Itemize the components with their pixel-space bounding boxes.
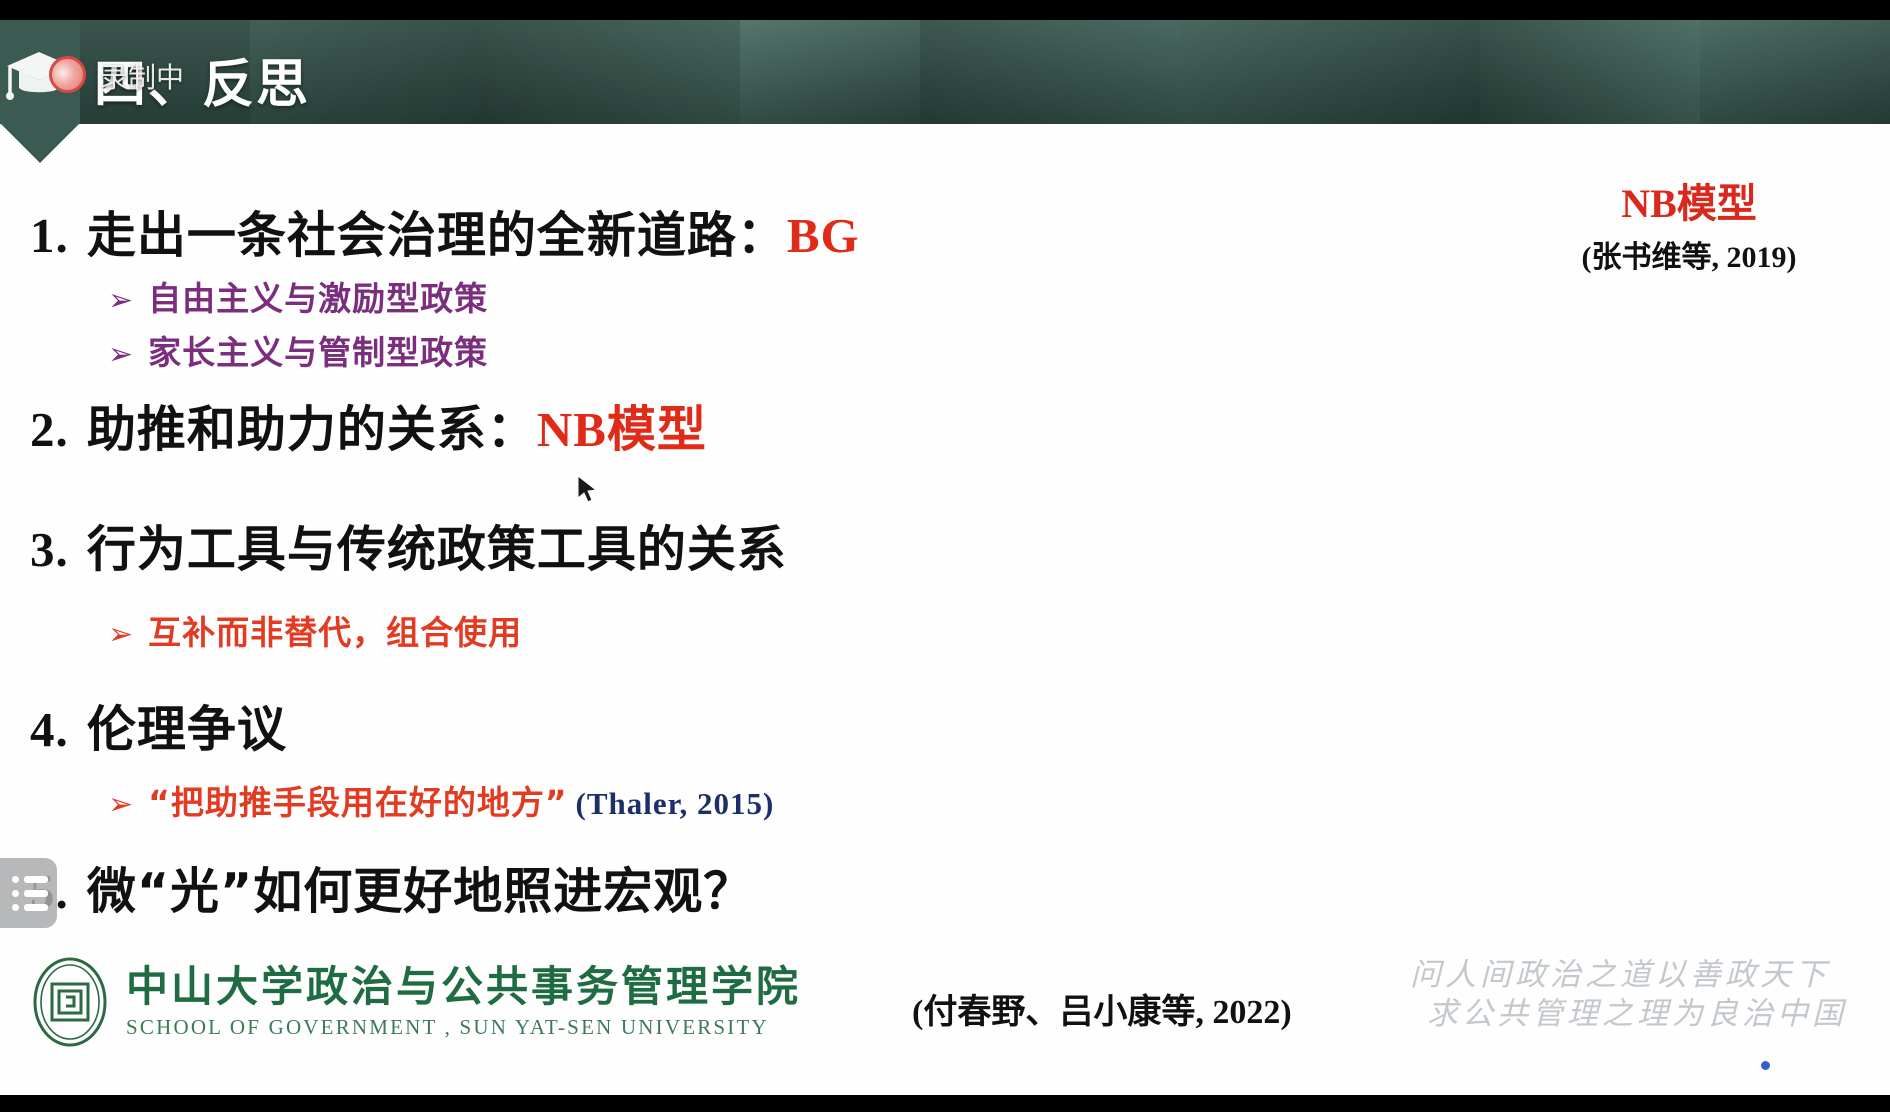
menu-dot-icon [12,890,19,897]
slide-header-banner: 四、反思 [0,20,1890,124]
university-logo: 中山大学政治与公共事务管理学院 SCHOOL OF GOVERNMENT , S… [32,956,801,1048]
outline-subitem-1-2: ➢家长主义与管制型政策 [108,326,488,374]
nb-model-annotation: NB模型 (张书维等, 2019) [1524,182,1854,276]
outline-text: 行为工具与传统政策工具的关系 [87,521,787,578]
bullet-arrow-icon: ➢ [108,337,134,372]
footer-citation: (付春野、吕小康等, 2022) [912,984,1292,1033]
subitem-text: 家长主义与管制型政策 [148,333,488,372]
outline-number: 1. [30,208,69,263]
recording-status-label: 录制中 [100,56,184,96]
menu-button[interactable] [0,858,57,928]
calligraphy-line-1: 问人间政治之道以善政天下 [1360,956,1880,995]
logo-text-block: 中山大学政治与公共事务管理学院 SCHOOL OF GOVERNMENT , S… [126,966,801,1038]
logo-english-name: SCHOOL OF GOVERNMENT , SUN YAT-SEN UNIVE… [126,1017,801,1038]
blue-dot-marker [1761,1061,1770,1070]
nb-model-title: NB模型 [1524,182,1854,226]
letterbox-bottom [0,1095,1890,1112]
outline-item-4: 4. 伦理争议 [30,690,287,761]
menu-dot-icon [12,876,19,883]
letterbox-top [0,0,1890,20]
calligraphy-line-2: 求公共管理之理为良治中国 [1394,995,1880,1034]
menu-line-icon [24,876,48,883]
menu-line-icon [24,904,48,911]
logo-chinese-name: 中山大学政治与公共事务管理学院 [126,966,801,1008]
outline-number: 4. [30,702,69,757]
outline-item-1: 1. 走出一条社会治理的全新道路：BG [30,196,860,267]
menu-dot-icon [12,904,19,911]
subitem-citation: (Thaler, 2015) [576,786,775,821]
outline-number: 3. [30,522,69,577]
outline-number: 2. [30,402,69,457]
outline-text: 助推和助力的关系： [87,401,537,458]
outline-subitem-3-1: ➢互补而非替代，组合使用 [108,606,522,654]
outline-text: 微“光”如何更好地照进宏观？ [87,863,753,920]
outline-accent: BG [787,208,860,263]
subitem-text: 互补而非替代，组合使用 [148,613,522,652]
calligraphy-watermark: 问人间政治之道以善政天下 求公共管理之理为良治中国 [1360,956,1880,1034]
slide-canvas: 四、反思 录制中 NB模型 (张书维等, 2019) 1. 走出一条社会治理的全… [0,20,1890,1095]
outline-subitem-1-1: ➢自由主义与激励型政策 [108,272,488,320]
outline-text: 走出一条社会治理的全新道路： [87,207,787,264]
slide-footer: 中山大学政治与公共事务管理学院 SCHOOL OF GOVERNMENT , S… [0,950,1890,1078]
subitem-text: “把助推手段用在好的地方” [148,783,567,822]
recording-indicator-icon [49,56,86,93]
subitem-text: 自由主义与激励型政策 [148,279,488,318]
menu-line-icon [24,890,48,897]
mouse-cursor [577,475,599,505]
bullet-arrow-icon: ➢ [108,283,134,318]
slide-body: NB模型 (张书维等, 2019) 1. 走出一条社会治理的全新道路：BG ➢自… [0,124,1890,984]
outline-accent: NB模型 [537,402,707,457]
bullet-arrow-icon: ➢ [108,617,134,652]
outline-item-3: 3. 行为工具与传统政策工具的关系 [30,510,787,581]
outline-text: 伦理争议 [87,701,287,758]
nb-model-citation: (张书维等, 2019) [1524,232,1854,276]
presentation-slide: 四、反思 录制中 NB模型 (张书维等, 2019) 1. 走出一条社会治理的全… [0,0,1890,1112]
bullet-arrow-icon: ➢ [108,787,134,822]
outline-item-5: 5. 微“光”如何更好地照进宏观？ [30,852,753,923]
university-seal-icon [32,956,108,1048]
outline-item-2: 2. 助推和助力的关系：NB模型 [30,390,707,461]
outline-subitem-4-1: ➢“把助推手段用在好的地方”(Thaler, 2015) [108,776,774,824]
